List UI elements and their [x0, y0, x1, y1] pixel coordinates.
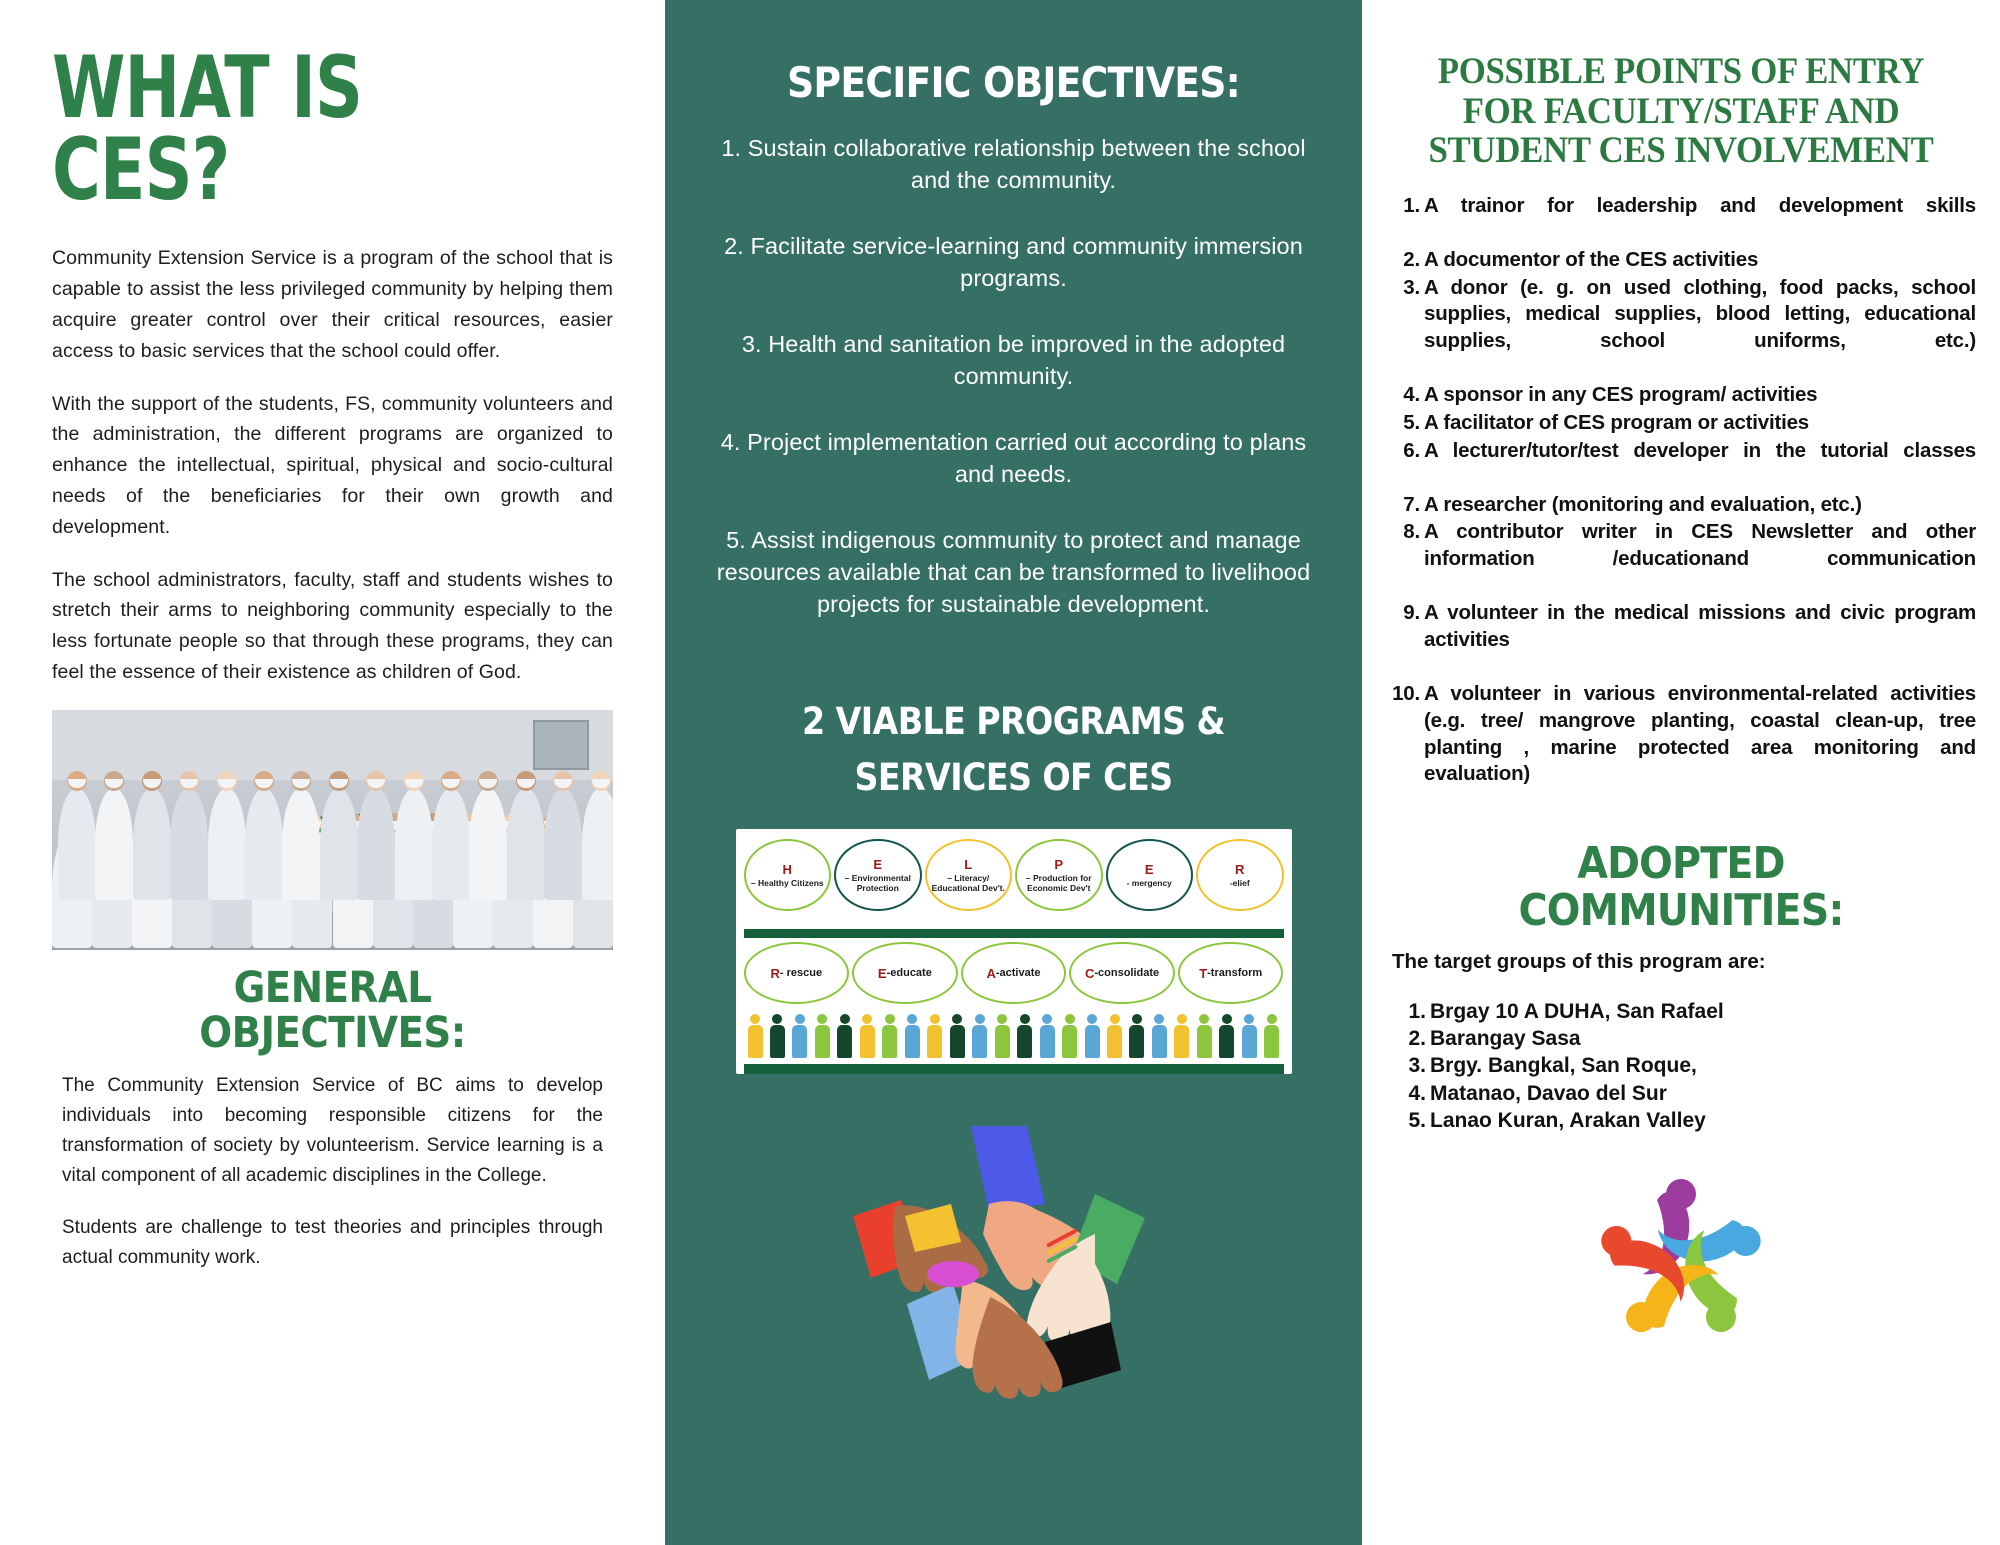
helper-bubble-key: H [783, 863, 792, 876]
react-bubble-word: -consolidate [1094, 967, 1159, 979]
people-silhouette-row [744, 1004, 1284, 1064]
react-bubble-word: -educate [887, 967, 932, 979]
list-text: A donor (e. g. on used clothing, food pa… [1424, 275, 1976, 382]
list-number: 2. [1396, 1025, 1430, 1052]
list-number: 2. [1386, 247, 1424, 274]
person-silhouette [1017, 1014, 1032, 1058]
paragraph: Students are challenge to test theories … [52, 1213, 613, 1273]
person-silhouette [860, 1014, 875, 1058]
helper-bubble: H– Healthy Citizens [744, 839, 832, 911]
infographic-divider [744, 929, 1284, 938]
person-silhouette [1107, 1014, 1122, 1058]
person-silhouette [1174, 1014, 1189, 1058]
react-bubble-key: T [1199, 966, 1207, 981]
viable-programs-title-line-2: SERVICES OF CES [855, 756, 1173, 799]
photo-person [544, 788, 582, 900]
person-silhouette [1129, 1014, 1144, 1058]
paragraph: With the support of the students, FS, co… [52, 389, 613, 543]
viable-programs-title: 2 VIABLE PROGRAMS & SERVICES OF CES [697, 654, 1330, 805]
helper-bubble-key: P [1054, 858, 1063, 871]
helper-bubble-label: – Healthy Citizens [751, 878, 824, 888]
hands-illustration [849, 1108, 1179, 1408]
react-bubble-key: E [878, 966, 887, 981]
point-of-entry-item: 5.A facilitator of CES program or activi… [1386, 410, 1976, 437]
list-number: 1. [1396, 998, 1430, 1025]
react-bubble-key: R [771, 966, 780, 981]
adopted-community-item: 5.Lanao Kuran, Arakan Valley [1396, 1107, 1976, 1134]
point-of-entry-item: 3.A donor (e. g. on used clothing, food … [1386, 275, 1976, 382]
panel-specific-objectives: SPECIFIC OBJECTIVES: 1. Sustain collabor… [665, 0, 1362, 1545]
person-silhouette [950, 1014, 965, 1058]
list-text: A sponsor in any CES program/ activities [1424, 382, 1976, 409]
group-photo [52, 710, 613, 950]
person-silhouette [1152, 1014, 1167, 1058]
person-silhouette [815, 1014, 830, 1058]
list-text: Barangay Sasa [1430, 1025, 1581, 1052]
list-text: Matanao, Davao del Sur [1430, 1080, 1667, 1107]
react-bubble: E-educate [852, 942, 958, 1004]
photo-person [395, 788, 433, 900]
react-bubble-word: -transform [1207, 967, 1262, 979]
general-objectives-text: The Community Extension Service of BC ai… [52, 1057, 613, 1273]
list-text: Brgy. Bangkal, San Roque, [1430, 1052, 1697, 1079]
photo-person [357, 788, 395, 900]
point-of-entry-item: 4.A sponsor in any CES program/ activiti… [1386, 382, 1976, 409]
adopted-communities-title-line-1: ADOPTED [1577, 838, 1784, 889]
photo-person [58, 788, 96, 900]
person-silhouette [927, 1014, 942, 1058]
react-bubble-key: A [986, 966, 995, 981]
point-of-entry-item: 8.A contributor writer in CES Newsletter… [1386, 519, 1976, 599]
adopted-community-item: 3.Brgy. Bangkal, San Roque, [1396, 1052, 1976, 1079]
page-title-line-2: CES? [52, 120, 229, 220]
adopted-communities-title: ADOPTED COMMUNITIES: [1386, 815, 1976, 933]
helper-bubble-label: – Environmental Protection [839, 873, 917, 894]
intro-text-block: Community Extension Service is a program… [52, 211, 613, 687]
list-number: 1. [1386, 193, 1424, 246]
adopted-communities-title-line-2: COMMUNITIES: [1519, 885, 1844, 936]
person-silhouette [770, 1014, 785, 1058]
helper-bubble-key: R [1235, 863, 1244, 876]
photo-person [95, 788, 133, 900]
photo-window [533, 720, 589, 770]
paragraph: Community Extension Service is a program… [52, 243, 613, 366]
point-of-entry-item: 2.A documentor of the CES activities [1386, 247, 1976, 274]
react-bubble: A-activate [961, 942, 1067, 1004]
target-groups-label: The target groups of this program are: [1386, 950, 1976, 974]
list-text: Lanao Kuran, Arakan Valley [1430, 1107, 1706, 1134]
list-number: 5. [1386, 410, 1424, 437]
points-of-entry-title-line-3: STUDENT CES INVOLVEMENT [1428, 130, 1933, 171]
list-number: 8. [1386, 519, 1424, 599]
list-text: A facilitator of CES program or activiti… [1424, 410, 1976, 437]
person-silhouette [837, 1014, 852, 1058]
react-bubble: R- rescue [744, 942, 850, 1004]
person-silhouette [792, 1014, 807, 1058]
list-number: 4. [1386, 382, 1424, 409]
general-objectives-title-line-2: OBJECTIVES: [199, 1008, 466, 1058]
list-number: 6. [1386, 438, 1424, 491]
point-of-entry-item: 1.A trainor for leadership and developme… [1386, 193, 1976, 246]
viable-programs-title-line-1: 2 VIABLE PROGRAMS & [802, 700, 1225, 743]
person-silhouette [1062, 1014, 1077, 1058]
helper-bubble: E- mergency [1106, 839, 1194, 911]
specific-objectives-list: 1. Sustain collaborative relationship be… [697, 133, 1330, 620]
helper-bubble: R-elief [1196, 839, 1284, 911]
person-silhouette [995, 1014, 1010, 1058]
list-number: 10. [1386, 681, 1424, 814]
person-silhouette [1197, 1014, 1212, 1058]
photo-person [432, 788, 470, 900]
photo-wall [52, 710, 613, 780]
list-number: 4. [1396, 1080, 1430, 1107]
helper-bubble: P– Production for Economic Dev't [1015, 839, 1103, 911]
general-objectives-title: GENERAL OBJECTIVES: [52, 950, 613, 1057]
person-silhouette [1085, 1014, 1100, 1058]
react-bubble: T-transform [1178, 942, 1284, 1004]
hand-sleeve-blue [971, 1126, 1045, 1212]
point-of-entry-item: 10.A volunteer in various environmental-… [1386, 681, 1976, 814]
specific-objective-item: 5. Assist indigenous community to protec… [697, 525, 1330, 621]
person-silhouette [882, 1014, 897, 1058]
photo-person [320, 788, 358, 900]
page-title: WHAT IS CES? [52, 0, 534, 211]
person-silhouette [1264, 1014, 1279, 1058]
infographic-base-strip [744, 1064, 1284, 1074]
list-text: A trainor for leadership and development… [1424, 193, 1976, 246]
list-number: 3. [1396, 1052, 1430, 1079]
person-silhouette [748, 1014, 763, 1058]
react-bubble-word: -activate [996, 967, 1041, 979]
list-text: A researcher (monitoring and evaluation,… [1424, 492, 1976, 519]
list-text: A volunteer in the medical missions and … [1424, 600, 1976, 680]
panel-what-is-ces: WHAT IS CES? Community Extension Service… [0, 0, 665, 1545]
adopted-community-item: 1.Brgay 10 A DUHA, San Rafael [1396, 998, 1976, 1025]
photo-person [208, 788, 246, 900]
adopted-community-item: 2.Barangay Sasa [1396, 1025, 1976, 1052]
list-number: 9. [1386, 600, 1424, 680]
list-text: Brgay 10 A DUHA, San Rafael [1430, 998, 1724, 1025]
person-silhouette [1242, 1014, 1257, 1058]
helper-bubble-label: -elief [1230, 878, 1250, 888]
photo-person [282, 788, 320, 900]
helper-bubble-key: E [1145, 863, 1154, 876]
react-bubble-row: R- rescueE-educateA-activateC-consolidat… [744, 942, 1284, 1004]
photo-person [507, 788, 545, 900]
react-bubble: C-consolidate [1069, 942, 1175, 1004]
photo-person [133, 788, 171, 900]
points-of-entry-title: POSSIBLE POINTS OF ENTRY FOR FACULTY/STA… [1404, 0, 1959, 171]
list-text: A lecturer/tutor/test developer in the t… [1424, 438, 1976, 491]
specific-objective-item: 3. Health and sanitation be improved in … [697, 329, 1330, 393]
photo-person [245, 788, 283, 900]
paragraph: The school administrators, faculty, staf… [52, 565, 613, 688]
points-of-entry-title-line-2: FOR FACULTY/STAFF AND [1463, 91, 1900, 132]
helper-bubble-label: – Literacy/ Educational Dev't. [930, 873, 1008, 894]
points-of-entry-title-line-1: POSSIBLE POINTS OF ENTRY [1438, 51, 1924, 92]
programs-infographic: H– Healthy CitizensE– Environmental Prot… [736, 829, 1292, 1074]
specific-objective-item: 1. Sustain collaborative relationship be… [697, 133, 1330, 197]
panel-points-of-entry: POSSIBLE POINTS OF ENTRY FOR FACULTY/STA… [1362, 0, 2000, 1545]
adopted-community-item: 4.Matanao, Davao del Sur [1396, 1080, 1976, 1107]
specific-objective-item: 4. Project implementation carried out ac… [697, 427, 1330, 491]
photo-person [170, 788, 208, 900]
photo-person [469, 788, 507, 900]
helper-bubble-row: H– Healthy CitizensE– Environmental Prot… [744, 839, 1284, 911]
paragraph: The Community Extension Service of BC ai… [52, 1071, 613, 1191]
helper-bubble-label: – Production for Economic Dev't [1020, 873, 1098, 894]
five-people-circle-logo [1566, 1162, 1796, 1362]
person-silhouette [1040, 1014, 1055, 1058]
helper-bubble-key: L [964, 858, 972, 871]
adopted-communities-list: 1.Brgay 10 A DUHA, San Rafael2.Barangay … [1386, 998, 1976, 1134]
hand-cuff-purple [927, 1261, 979, 1287]
photo-person [582, 788, 613, 900]
react-bubble-key: C [1085, 966, 1094, 981]
list-number: 5. [1396, 1107, 1430, 1134]
helper-bubble: E– Environmental Protection [834, 839, 922, 911]
brochure-page: WHAT IS CES? Community Extension Service… [0, 0, 2000, 1545]
list-text: A contributor writer in CES Newsletter a… [1424, 519, 1976, 599]
list-text: A documentor of the CES activities [1424, 247, 1976, 274]
react-bubble-word: - rescue [780, 967, 822, 979]
person-silhouette [905, 1014, 920, 1058]
points-of-entry-list: 1.A trainor for leadership and developme… [1386, 193, 1976, 815]
helper-bubble: L– Literacy/ Educational Dev't. [925, 839, 1013, 911]
helper-bubble-label: - mergency [1127, 878, 1172, 888]
list-number: 7. [1386, 492, 1424, 519]
specific-objectives-title: SPECIFIC OBJECTIVES: [697, 0, 1330, 107]
person-silhouette [972, 1014, 987, 1058]
person-silhouette [1219, 1014, 1234, 1058]
specific-objective-item: 2. Facilitate service-learning and commu… [697, 231, 1330, 295]
list-number: 3. [1386, 275, 1424, 382]
point-of-entry-item: 7.A researcher (monitoring and evaluatio… [1386, 492, 1976, 519]
list-text: A volunteer in various environmental-rel… [1424, 681, 1976, 814]
helper-bubble-key: E [873, 858, 882, 871]
general-objectives-title-line-1: GENERAL [234, 963, 432, 1013]
point-of-entry-item: 9.A volunteer in the medical missions an… [1386, 600, 1976, 680]
point-of-entry-item: 6.A lecturer/tutor/test developer in the… [1386, 438, 1976, 491]
